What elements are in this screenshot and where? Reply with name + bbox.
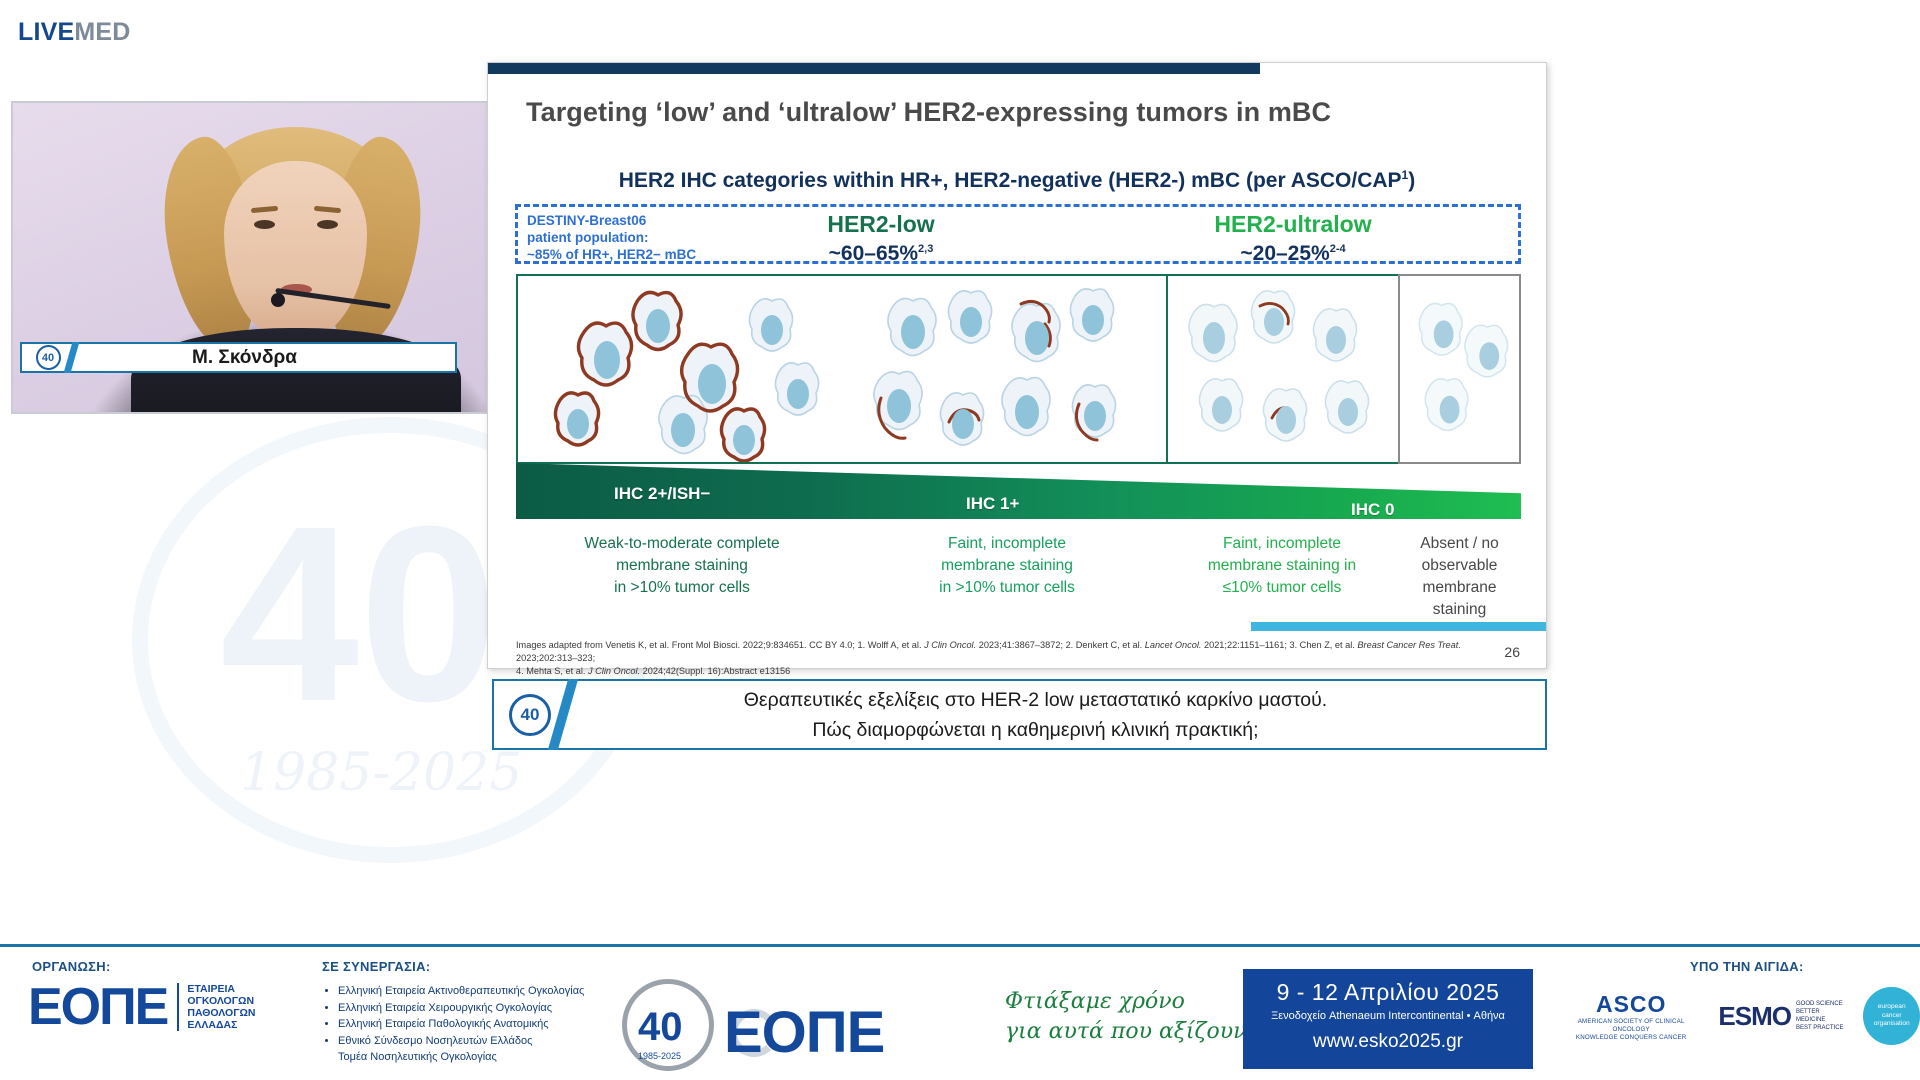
destiny-population-text: DESTINY-Breast06 patient population: ~85… (527, 212, 696, 263)
anniversary-years: 1985-2025 (638, 1051, 681, 1061)
panel-divider-ultralow (1166, 274, 1168, 464)
event-dates: 9 - 12 Απριλίου 2025 (1243, 979, 1533, 1006)
asco-logo: ASCO AMERICAN SOCIETY OF CLINICAL ONCOLO… (1560, 991, 1702, 1042)
livemed-logo: LIVEMED (18, 18, 131, 47)
cooperation-label: ΣΕ ΣΥΝΕΡΓΑΣΙΑ: (322, 959, 430, 974)
ecc-line-1: european (1878, 1003, 1906, 1012)
footnote-2b: 2024;42(Suppl. 16):Abstract e13156 (640, 666, 790, 676)
slide-top-bar (488, 63, 1260, 74)
footnote-1c: 2021;22:1151–1161; 3. Chen Z, et al. (1201, 640, 1357, 650)
cooperation-list: Ελληνική Εταιρεία Ακτινοθεραπευτικής Ογκ… (326, 983, 584, 1066)
ihc-label-2plus: IHC 2+/ISH− (614, 484, 710, 504)
anniversary-logo: 40 1985-2025 ΕΟΠΕ (622, 975, 1002, 1075)
session-title-line-2: Πώς διαμορφώνεται η καθημερινή κλινική π… (566, 715, 1505, 745)
slide-subtitle-tail: ) (1408, 169, 1415, 192)
esmo-taglines: GOOD SCIENCE BETTER MEDICINE BEST PRACTI… (1796, 1000, 1847, 1032)
slide-page-number: 26 (1504, 644, 1520, 660)
her2-low-percent: ~60–65%2,3 (771, 237, 991, 266)
anniversary-word: ΕΟΠΕ (724, 999, 884, 1066)
asco-tagline-1: AMERICAN SOCIETY OF CLINICAL ONCOLOGY (1560, 1018, 1702, 1034)
session-title-line-1: Θεραπευτικές εξελίξεις στο HER-2 low μετ… (566, 685, 1505, 715)
eope-sub-1: ΕΤΑΙΡΕΙΑ (187, 983, 255, 995)
her2-ultralow-group: HER2-ultralow ~20–25%2-4 (1168, 211, 1418, 266)
event-website[interactable]: www.esko2025.gr (1243, 1031, 1533, 1053)
slide-footnote: Images adapted from Venetis K, et al. Fr… (516, 639, 1521, 678)
speaker-eye-right (317, 220, 338, 229)
caption-2-line-2: membrane staining (848, 555, 1166, 577)
caption-3-line-2: membrane staining in (1166, 555, 1398, 577)
eope-logo: ΕΟΠΕ ΕΤΑΙΡΕΙΑ ΟΓΚΟΛΟΓΩΝ ΠΑΘΟΛΟΓΩΝ ΕΛΛΑΔΑ… (28, 981, 256, 1033)
session-title-bar: 40 Θεραπευτικές εξελίξεις στο HER-2 low … (492, 679, 1547, 750)
caption-3-line-1: Faint, incomplete (1166, 533, 1398, 555)
ihc-captions: Weak-to-moderate complete membrane stain… (516, 533, 1521, 633)
footnote-1i2: Lancet Oncol. (1145, 640, 1202, 650)
esmo-logo: ESMO GOOD SCIENCE BETTER MEDICINE BEST P… (1718, 1000, 1847, 1032)
caption-4-line-1: Absent / no (1398, 533, 1521, 555)
footer: ΟΡΓΑΝΩΣΗ: ΣΕ ΣΥΝΕΡΓΑΣΙΑ: ΥΠΟ ΤΗΝ ΑΙΓΙΔΑ:… (0, 944, 1920, 1080)
eope-subtitle: ΕΤΑΙΡΕΙΑ ΟΓΚΟΛΟΓΩΝ ΠΑΘΟΛΟΓΩΝ ΕΛΛΑΔΑΣ (177, 983, 255, 1031)
her2-ultralow-percent: ~20–25%2-4 (1168, 237, 1418, 266)
ihc-label-0: IHC 0 (1351, 500, 1394, 519)
her2-low-percent-value: ~60–65% (829, 242, 918, 265)
speaker-name: Μ. Σκόνδρα (74, 347, 455, 369)
caption-3-line-3: ≤10% tumor cells (1166, 577, 1398, 599)
session-title-text: Θεραπευτικές εξελίξεις στο HER-2 low μετ… (566, 685, 1545, 745)
footnote-2a: 4. Mehta S, et al. (516, 666, 588, 676)
eope-sub-2: ΟΓΚΟΛΟΓΩΝ (187, 995, 255, 1007)
microphone-head-icon (271, 293, 285, 307)
destiny-line-1: DESTINY-Breast06 (527, 212, 696, 229)
ecc-line-2: cancer (1882, 1012, 1902, 1021)
speaker-eye-left (254, 220, 275, 229)
caption-1-line-2: membrane staining (516, 555, 848, 577)
slide-subtitle: HER2 IHC categories within HR+, HER2-neg… (488, 168, 1546, 193)
event-date-box: 9 - 12 Απριλίου 2025 Ξενοδοχείο Athenaeu… (1243, 969, 1533, 1069)
eope-sub-4: ΕΛΛΑΔΑΣ (187, 1019, 255, 1031)
svg-text:1985-2025: 1985-2025 (240, 743, 522, 803)
panel-ihc-0 (1398, 274, 1521, 464)
footnote-line-1: Images adapted from Venetis K, et al. Fr… (516, 639, 1521, 665)
anniversary-badge-icon-large: 40 (494, 681, 566, 748)
slide-subtitle-text: HER2 IHC categories within HR+, HER2-neg… (619, 169, 1402, 192)
event-venue: Ξενοδοχείο Athenaeum Intercontinental • … (1243, 1010, 1533, 1022)
screen: 40 1985-2025 LIVEMED 40 Μ. Σκόνδρα Targe… (0, 0, 1920, 1080)
caption-4-line-2: observable (1398, 555, 1521, 577)
anniversary-badge-large-number: 40 (509, 694, 551, 736)
caption-4-line-4: staining (1398, 599, 1521, 621)
eope-sub-3: ΠΑΘΟΛΟΓΩΝ (187, 1007, 255, 1019)
caption-2-line-1: Faint, incomplete (848, 533, 1166, 555)
list-item: Ελληνική Εταιρεία Ακτινοθεραπευτικής Ογκ… (338, 983, 584, 1000)
esmo-tagline-2: BETTER MEDICINE (1796, 1008, 1847, 1024)
speaker-nameplate: 40 Μ. Σκόνδρα (20, 342, 457, 373)
list-item: Τομέα Νοσηλευτικής Ογκολογίας (338, 1049, 584, 1066)
slogan: Φτιάξαμε χρόνο για αυτά που αξίζουν (1005, 987, 1246, 1047)
anniversary-badge-number: 40 (36, 345, 61, 370)
cells-ihc-0 (1400, 276, 1519, 462)
presentation-slide: Targeting ‘low’ and ‘ultralow’ HER2-expr… (487, 62, 1547, 669)
her2-low-label: HER2-low (771, 211, 991, 237)
panel-ihc-2plus (516, 274, 848, 464)
her2-ultralow-percent-value: ~20–25% (1240, 242, 1329, 265)
her2-ultralow-percent-ref: 2-4 (1330, 243, 1346, 255)
ihc-label-1plus: IHC 1+ (966, 494, 1019, 514)
slogan-line-1: Φτιάξαμε χρόνο (1005, 987, 1246, 1017)
livemed-med: MED (74, 18, 130, 46)
cells-ihc-2plus (518, 276, 848, 462)
anniversary-number: 40 (638, 1005, 683, 1050)
caption-ihc-2plus: Weak-to-moderate complete membrane stain… (516, 533, 848, 599)
her2-low-group: HER2-low ~60–65%2,3 (771, 211, 991, 266)
esmo-name: ESMO (1718, 1001, 1791, 1032)
footnote-line-2: 4. Mehta S, et al. J Clin Oncol. 2024;42… (516, 665, 1521, 678)
slide-bottom-bar (1251, 622, 1546, 631)
svg-text:40: 40 (220, 474, 498, 753)
caption-1-line-1: Weak-to-moderate complete (516, 533, 848, 555)
caption-2-line-3: in >10% tumor cells (848, 577, 1166, 599)
ihc-gradient-bar: IHC 2+/ISH− IHC 1+ IHC 0 (516, 463, 1521, 519)
footnote-1d: 2023;202:313–323; (516, 653, 595, 663)
list-item: Ελληνική Εταιρεία Χειρουργικής Ογκολογία… (338, 1000, 584, 1017)
caption-ihc-ultralow: Faint, incomplete membrane staining in ≤… (1166, 533, 1398, 599)
european-cancer-organisation-logo: european cancer organisation (1863, 987, 1920, 1045)
panel-ihc-1plus (848, 274, 1166, 464)
footnote-1i1: J Clin Oncol. (924, 640, 976, 650)
organizer-label: ΟΡΓΑΝΩΣΗ: (32, 959, 111, 974)
aegis-label: ΥΠΟ ΤΗΝ ΑΙΓΙΔΑ: (1690, 959, 1804, 974)
caption-1-line-3: in >10% tumor cells (516, 577, 848, 599)
ecc-line-3: organisation (1874, 1020, 1910, 1029)
caption-4-line-3: membrane (1398, 577, 1521, 599)
destiny-line-3: ~85% of HR+, HER2− mBC (527, 246, 696, 263)
slogan-line-2: για αυτά που αξίζουν (1005, 1017, 1246, 1047)
list-item: Εθνικό Σύνδεσμο Νοσηλευτών Ελλάδος (338, 1033, 584, 1050)
her2-ultralow-label: HER2-ultralow (1168, 211, 1418, 237)
footnote-1b: 2023;41:3867–3872; 2. Denkert C, et al. (976, 640, 1145, 650)
eope-mark: ΕΟΠΕ (28, 981, 167, 1033)
anniversary-badge-icon: 40 (22, 344, 74, 371)
her2-low-percent-ref: 2,3 (918, 243, 933, 255)
list-item: Ελληνική Εταιρεία Παθολογικής Ανατομικής (338, 1016, 584, 1033)
destiny-line-2: patient population: (527, 229, 696, 246)
footnote-1a: Images adapted from Venetis K, et al. Fr… (516, 640, 924, 650)
asco-name: ASCO (1560, 991, 1702, 1018)
caption-ihc-1plus: Faint, incomplete membrane staining in >… (848, 533, 1166, 599)
cells-ihc-1plus (848, 276, 1166, 462)
livemed-live: LIVE (18, 18, 74, 46)
panel-ihc-ultralow (1166, 274, 1398, 464)
aegis-logos: ASCO AMERICAN SOCIETY OF CLINICAL ONCOLO… (1560, 987, 1920, 1045)
slide-title: Targeting ‘low’ and ‘ultralow’ HER2-expr… (526, 97, 1331, 128)
patient-population-box: DESTINY-Breast06 patient population: ~85… (515, 204, 1521, 264)
caption-ihc-0: Absent / no observable membrane staining (1398, 533, 1521, 621)
footnote-2i1: J Clin Oncol. (588, 666, 640, 676)
cells-ihc-ultralow (1168, 276, 1398, 462)
ihc-cell-panels (516, 274, 1521, 464)
footnote-1i3: Breast Cancer Res Treat. (1357, 640, 1460, 650)
esmo-tagline-1: GOOD SCIENCE (1796, 1000, 1847, 1008)
esmo-tagline-3: BEST PRACTICE (1796, 1024, 1847, 1032)
asco-tagline-2: KNOWLEDGE CONQUERS CANCER (1560, 1034, 1702, 1042)
